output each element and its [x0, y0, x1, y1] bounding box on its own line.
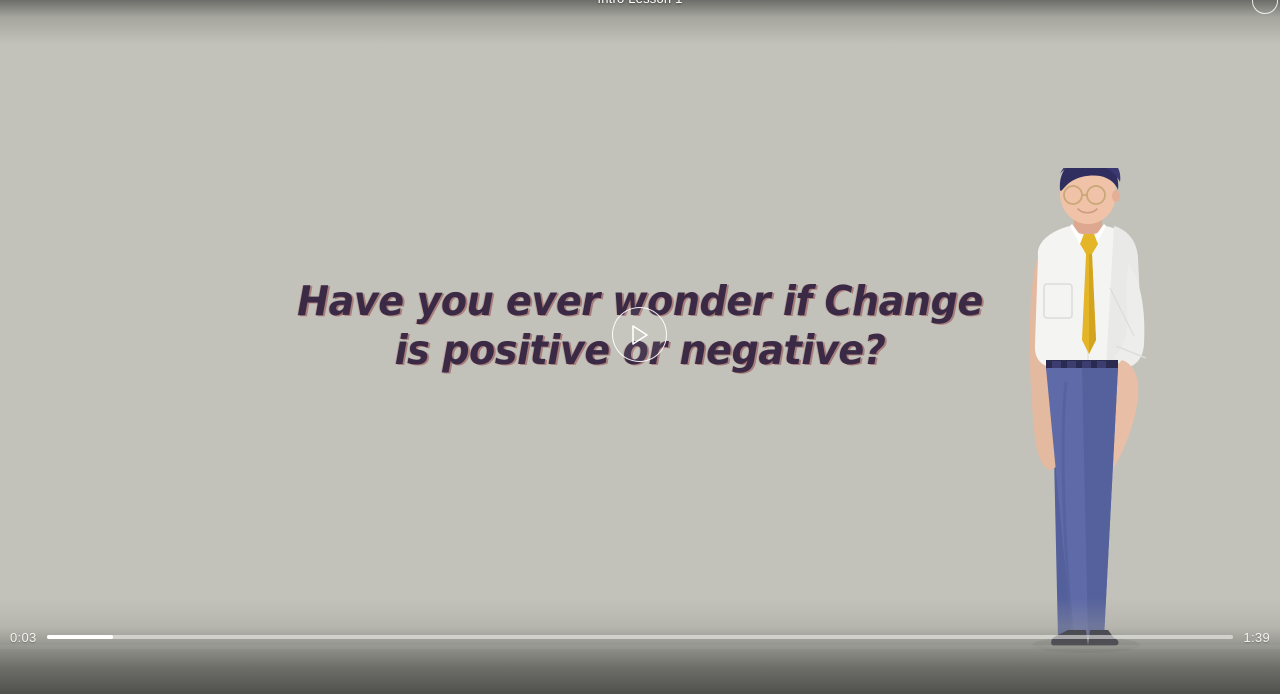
progress-scrubber[interactable] — [47, 635, 1234, 639]
progress-fill — [47, 635, 113, 639]
video-player[interactable]: Have you ever wonder if Change is positi… — [0, 0, 1280, 694]
illustrated-man-with-glasses — [1010, 168, 1170, 654]
play-button[interactable] — [612, 307, 667, 362]
total-time-label: 1:39 — [1243, 630, 1270, 645]
player-controls[interactable]: 0:03 1:39 — [0, 625, 1280, 649]
play-icon — [630, 324, 650, 346]
video-title: Intro Lesson 1 — [0, 0, 1280, 6]
current-time-label: 0:03 — [10, 630, 37, 645]
